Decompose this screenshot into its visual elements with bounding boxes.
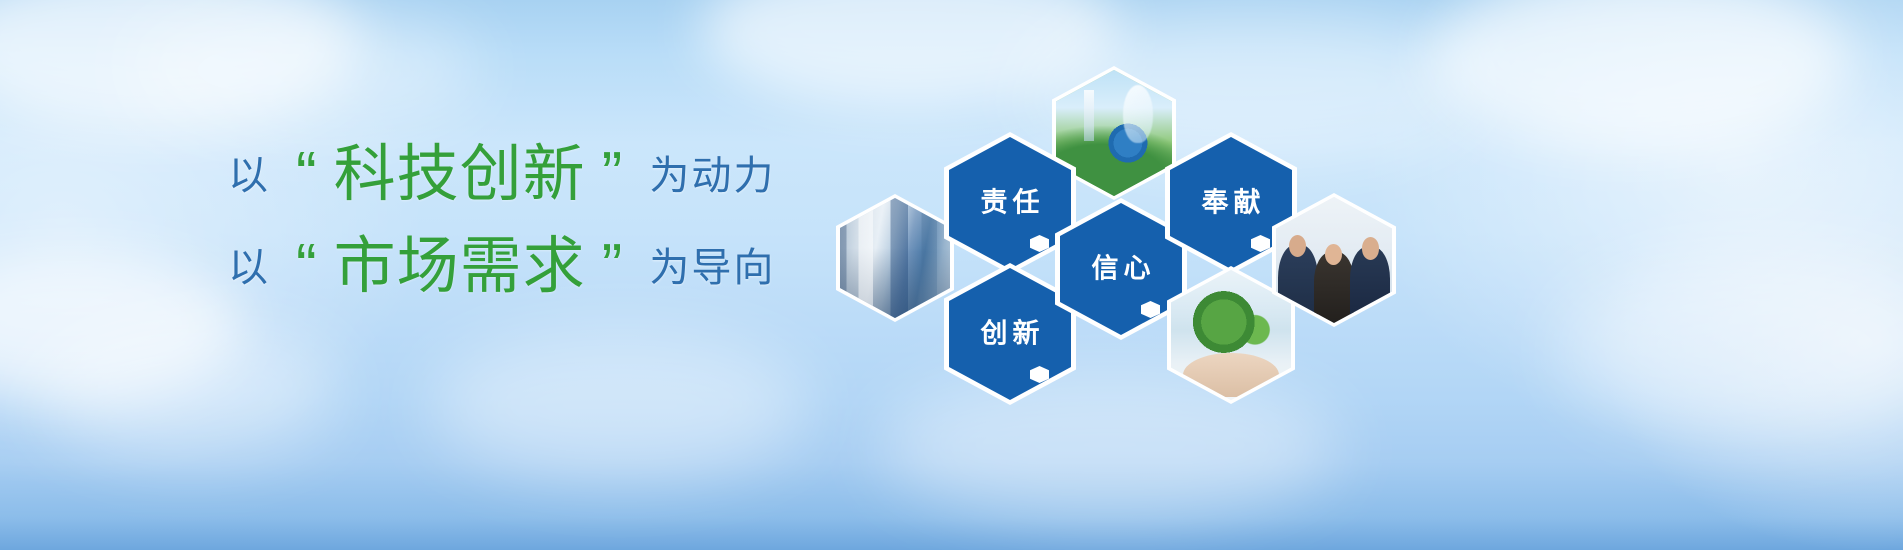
headline-line-2: 以 “ 市场需求 ” 为导向 xyxy=(228,230,908,292)
headline-block: 以 “ 科技创新 ” 为动力 以 “ 市场需求 ” 为导向 xyxy=(228,138,908,322)
line1-emphasis: 科技创新 xyxy=(334,144,586,206)
line2-quote-close: ” xyxy=(602,236,624,298)
hexagon-dedication-label: 奉献 xyxy=(1170,180,1292,219)
hexagon-accent-icon xyxy=(1030,235,1049,252)
hexagon-accent-icon xyxy=(1030,366,1049,383)
hexagon-cluster: 责任 创新 信心 奉献 xyxy=(812,58,1432,398)
line2-prefix: 以 xyxy=(228,248,270,288)
line2-suffix: 为导向 xyxy=(649,248,775,288)
cloud-shape xyxy=(40,320,340,460)
hands-shape xyxy=(1183,353,1279,397)
hexagon-city-photo xyxy=(836,194,954,322)
line1-suffix: 为动力 xyxy=(649,156,775,196)
building-shape xyxy=(1084,90,1094,140)
hexagon-responsibility-label: 责任 xyxy=(949,180,1071,219)
city-skyscrapers-photo xyxy=(840,198,950,318)
line1-quote-open: “ xyxy=(296,144,318,206)
line2-quote-open: “ xyxy=(296,236,318,298)
skyline-shade xyxy=(840,248,950,318)
headline-line-1: 以 “ 科技创新 ” 为动力 xyxy=(228,138,908,200)
cloud-shape xyxy=(120,10,480,130)
business-team-thumbsup-photo xyxy=(1276,197,1392,323)
company-culture-banner: 以 “ 科技创新 ” 为动力 以 “ 市场需求 ” 为导向 xyxy=(0,0,1903,550)
hexagon-confidence-label: 信心 xyxy=(1060,246,1182,285)
line2-emphasis: 市场需求 xyxy=(334,236,586,298)
hexagon-innovation-label: 创新 xyxy=(949,311,1071,350)
line1-prefix: 以 xyxy=(228,156,270,196)
lightbulb-shape xyxy=(1123,85,1153,143)
person-mid-head xyxy=(1325,244,1342,265)
line1-quote-close: ” xyxy=(602,144,624,206)
hexagon-accent-icon xyxy=(1141,301,1160,318)
cloud-shape xyxy=(430,330,810,480)
hexagon-accent-icon xyxy=(1251,235,1270,252)
